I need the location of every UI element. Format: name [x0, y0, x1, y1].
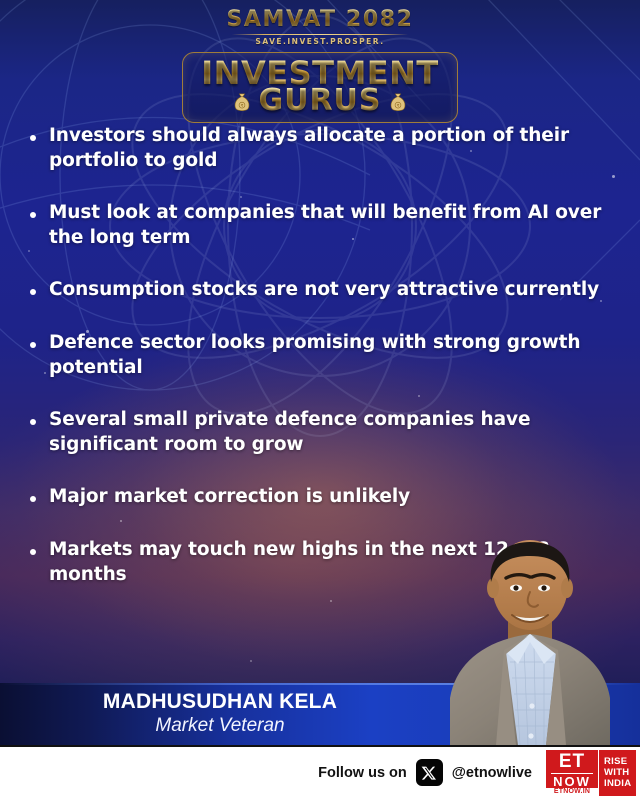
list-item: Must look at companies that will benefit… — [0, 201, 640, 250]
footer-bar: Follow us on @etnowlive ET NOW ETNOW.IN … — [0, 745, 640, 800]
bullet-dot-icon — [30, 289, 36, 295]
bullet-text: Several small private defence companies … — [49, 408, 605, 457]
investment-gurus-card: SAMVAT 2082 SAVE.INVEST.PROSPER. INVESTM… — [0, 0, 640, 800]
list-item: Investors should always allocate a porti… — [0, 124, 640, 173]
money-bag-icon: ₹ — [389, 91, 407, 113]
etnow-logo-mark: ET NOW ETNOW.IN — [546, 750, 598, 796]
list-item: Consumption stocks are not very attracti… — [0, 278, 640, 303]
logo-tagline: SAVE.INVEST.PROSPER. — [0, 37, 640, 46]
speaker-name: MADHUSUDHAN KELA — [103, 690, 337, 714]
bullet-text: Major market correction is unlikely — [49, 485, 410, 510]
bullet-dot-icon — [30, 496, 36, 502]
etnow-logo: ET NOW ETNOW.IN RISE WITH INDIA — [546, 750, 636, 796]
show-title-box: INVESTMENT ₹ GURUS ₹ — [182, 52, 458, 123]
bullet-text: Defence sector looks promising with stro… — [49, 331, 605, 380]
footer-divider — [0, 745, 640, 747]
presenter-photo — [420, 530, 640, 745]
bullet-text: Consumption stocks are not very attracti… — [49, 278, 599, 303]
speaker-designation: Market Veteran — [155, 715, 284, 738]
follow-us-group: Follow us on @etnowlive — [318, 759, 532, 786]
list-item: Major market correction is unlikely — [0, 485, 640, 510]
list-item: Defence sector looks promising with stro… — [0, 331, 640, 380]
svg-text:₹: ₹ — [241, 103, 244, 108]
etnow-tagline: RISE WITH INDIA — [598, 750, 636, 796]
event-logo: SAMVAT 2082 SAVE.INVEST.PROSPER. INVESTM… — [0, 8, 640, 123]
bullet-dot-icon — [30, 549, 36, 555]
show-title-line2: GURUS — [258, 87, 381, 116]
etnow-logo-primary: ET — [559, 752, 585, 771]
etnow-tagline-line1: RISE — [604, 756, 627, 767]
etnow-tagline-line3: INDIA — [604, 778, 631, 789]
etnow-logo-url: ETNOW.IN — [546, 788, 598, 796]
bullet-dot-icon — [30, 135, 36, 141]
bullet-dot-icon — [30, 342, 36, 348]
money-bag-icon: ₹ — [233, 91, 251, 113]
logo-divider — [232, 34, 408, 35]
social-handle[interactable]: @etnowlive — [452, 765, 532, 781]
follow-us-label: Follow us on — [318, 765, 407, 781]
etnow-tagline-line2: WITH — [604, 767, 629, 778]
list-item: Several small private defence companies … — [0, 408, 640, 457]
samvat-title: SAMVAT 2082 — [0, 8, 640, 31]
svg-text:₹: ₹ — [396, 103, 399, 108]
bullet-text: Must look at companies that will benefit… — [49, 201, 605, 250]
bullet-text: Investors should always allocate a porti… — [49, 124, 605, 173]
bullet-dot-icon — [30, 212, 36, 218]
bullet-dot-icon — [30, 419, 36, 425]
x-twitter-icon[interactable] — [416, 759, 443, 786]
